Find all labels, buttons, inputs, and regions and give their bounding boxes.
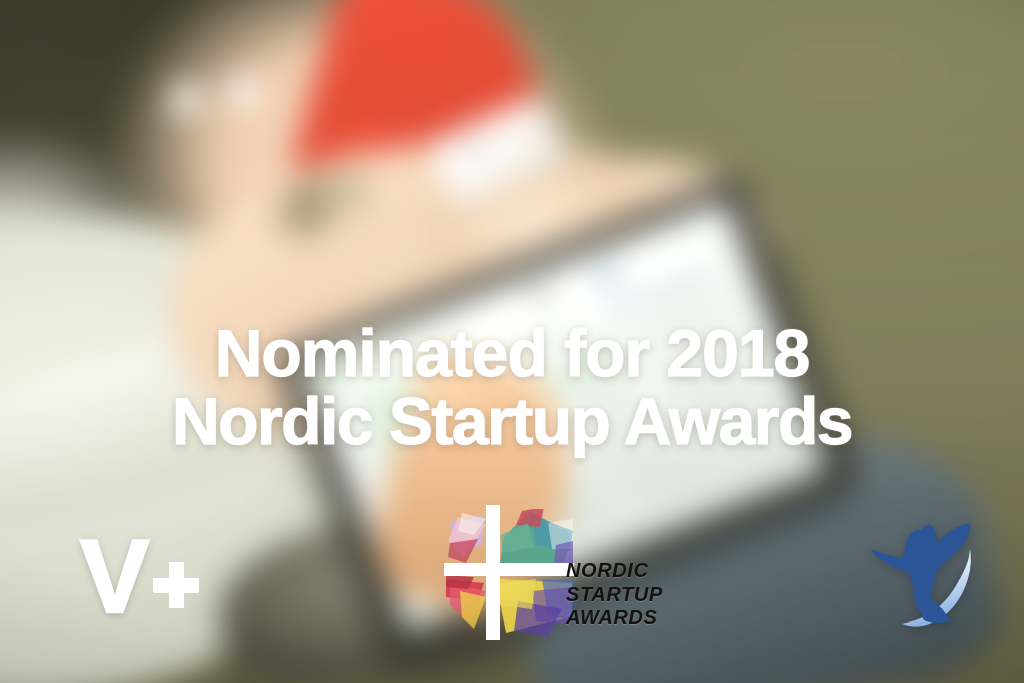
nordic-startup-awards-logo[interactable]: NORDIC STARTUP AWARDS (444, 505, 704, 645)
promo-banner: Nominated for 2018 Nordic Startup Awards… (0, 0, 1024, 683)
award-logo-line-2: STARTUP (566, 584, 663, 608)
nordic-startup-awards-wordmark: NORDIC STARTUP AWARDS (566, 560, 663, 631)
vplus-letter: V (80, 535, 149, 620)
vplus-logo[interactable]: V (80, 535, 199, 620)
hummingbird-logo[interactable] (862, 512, 998, 644)
hummingbird-icon (862, 512, 998, 644)
award-logo-line-1: NORDIC (566, 560, 663, 584)
award-logo-line-3: AWARDS (566, 607, 663, 631)
nordic-cross-icon (444, 505, 574, 640)
plus-icon (153, 562, 199, 608)
